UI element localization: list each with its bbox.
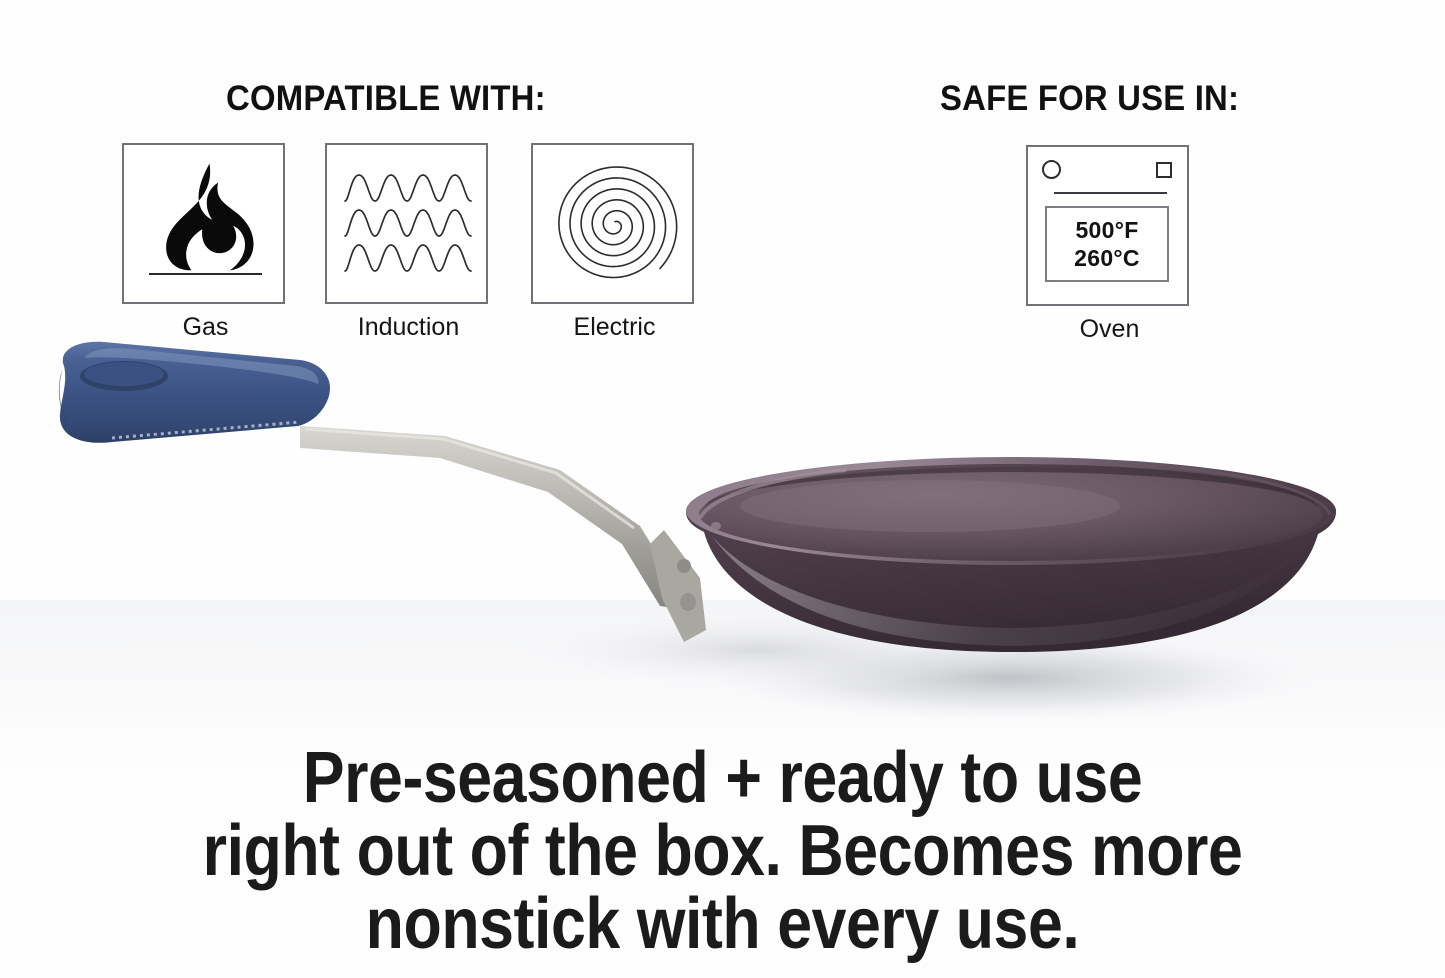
safe-for-use-in-heading: SAFE FOR USE IN: bbox=[940, 79, 1239, 119]
oven-icon-art: 500°F 260°C bbox=[1028, 147, 1187, 304]
headline-line-3: nonstick with every use. bbox=[94, 888, 1351, 961]
gas-burner-line bbox=[149, 273, 262, 275]
safety-badge-oven: 500°F 260°C Oven bbox=[1026, 145, 1189, 306]
compatibility-badge-electric: Electric bbox=[531, 143, 694, 304]
oven-knob-icon bbox=[1042, 160, 1061, 179]
compatibility-badge-gas: Gas bbox=[122, 143, 285, 304]
oven-display-icon bbox=[1156, 162, 1172, 178]
oven-door-window: 500°F 260°C bbox=[1045, 206, 1169, 282]
product-photo-frying-pan bbox=[0, 330, 1445, 750]
handle-rivet-upper bbox=[677, 559, 691, 573]
handle-rivet-lower bbox=[680, 593, 696, 611]
headline-line-1: Pre-seasoned + ready to use bbox=[94, 742, 1351, 815]
compatibility-badge-induction: Induction bbox=[325, 143, 488, 304]
oven-temperature-rating: 500°F 260°C bbox=[1047, 216, 1167, 272]
oven-temp-fahrenheit: 500°F bbox=[1047, 216, 1167, 244]
handle-steel-shaft bbox=[300, 426, 700, 612]
headline-line-2: right out of the box. Becomes more bbox=[94, 815, 1351, 888]
induction-waves-icon-row2 bbox=[344, 206, 472, 240]
electric-icon-art bbox=[533, 145, 692, 302]
grip-hanging-hole-inner bbox=[84, 362, 164, 386]
induction-waves-icon bbox=[344, 171, 472, 205]
induction-icon-art bbox=[327, 145, 486, 302]
headline-block: Pre-seasoned + ready to use right out of… bbox=[0, 742, 1445, 961]
infographic-canvas: COMPATIBLE WITH: SAFE FOR USE IN: Gas In… bbox=[0, 0, 1445, 978]
oven-panel-divider bbox=[1054, 192, 1167, 194]
flame-icon bbox=[157, 163, 254, 271]
induction-waves-icon-row3 bbox=[344, 241, 472, 275]
electric-coil-spiral-icon bbox=[545, 153, 684, 297]
pan-interior-highlight bbox=[740, 480, 1120, 532]
gas-icon-art bbox=[124, 145, 283, 302]
pan-interior-rivet bbox=[711, 522, 721, 530]
oven-temp-celsius: 260°C bbox=[1047, 244, 1167, 272]
compatible-with-heading: COMPATIBLE WITH: bbox=[226, 79, 546, 119]
